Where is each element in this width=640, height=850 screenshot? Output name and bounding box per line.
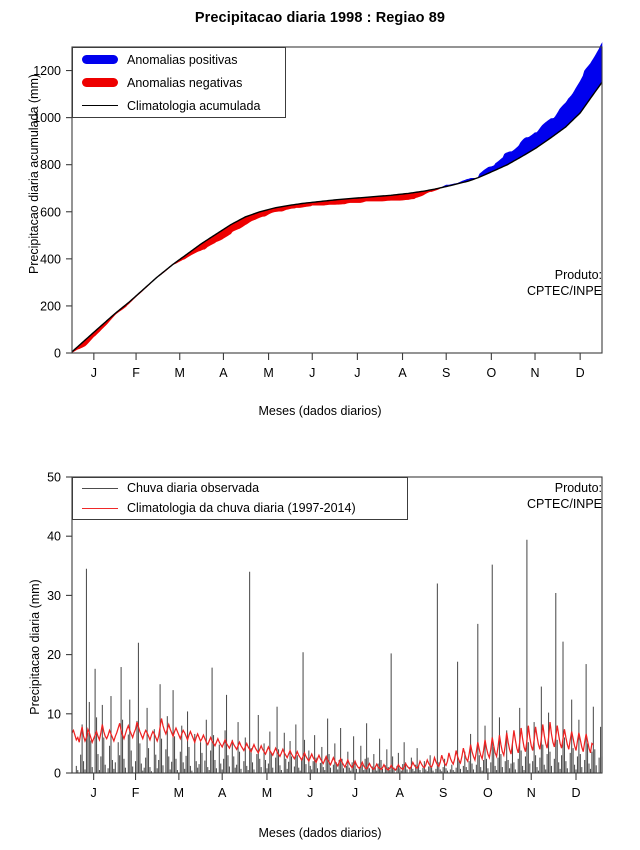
top-x-tick-label: A bbox=[398, 366, 407, 380]
bottom-x-tick-label: J bbox=[352, 786, 358, 800]
legend-item-climatology: Climatologia acumulada bbox=[73, 94, 285, 117]
negative-anomaly-swatch-icon bbox=[82, 78, 118, 87]
top-x-tick-label: N bbox=[531, 366, 540, 380]
climatology-daily-line-swatch-icon bbox=[82, 508, 118, 509]
bottom-y-tick-label: 40 bbox=[47, 530, 61, 544]
bottom-x-tick-label: M bbox=[174, 786, 184, 800]
top-y-axis-label: Precipitacao diaria acumulada (mm) bbox=[27, 54, 41, 294]
legend-label: Anomalias negativas bbox=[118, 76, 242, 90]
top-x-tick-label: M bbox=[263, 366, 273, 380]
top-y-tick-label: 400 bbox=[40, 252, 61, 266]
climatology-daily-line bbox=[72, 719, 593, 771]
legend-label: Anomalias positivas bbox=[118, 53, 237, 67]
top-x-tick-label: J bbox=[91, 366, 97, 380]
top-x-tick-label: F bbox=[132, 366, 140, 380]
bottom-x-tick-label: O bbox=[483, 786, 493, 800]
legend-label: Climatologia da chuva diaria (1997-2014) bbox=[118, 501, 356, 515]
bottom-x-tick-label: F bbox=[132, 786, 140, 800]
bottom-x-tick-label: N bbox=[527, 786, 536, 800]
top-y-tick-label: 800 bbox=[40, 158, 61, 172]
bottom-y-tick-label: 20 bbox=[47, 648, 61, 662]
legend-item-climatology-daily: Climatologia da chuva diaria (1997-2014) bbox=[73, 498, 407, 518]
bottom-x-axis-label: Meses (dados diarios) bbox=[0, 826, 640, 840]
bottom-y-axis-label: Precipitacao diaria (mm) bbox=[28, 532, 42, 762]
observed-daily-line-swatch-icon bbox=[82, 488, 118, 489]
top-x-tick-label: M bbox=[175, 366, 185, 380]
top-x-tick-label: S bbox=[442, 366, 450, 380]
bottom-y-tick-label: 0 bbox=[54, 767, 61, 781]
top-y-tick-label: 600 bbox=[40, 205, 61, 219]
top-x-tick-label: A bbox=[219, 366, 228, 380]
top-x-tick-label: D bbox=[576, 366, 585, 380]
top-x-tick-label: J bbox=[309, 366, 315, 380]
producer-credit-bottom: Produto:CPTEC/INPE bbox=[527, 481, 602, 512]
chart-page: Precipitacao diaria 1998 : Regiao 89 020… bbox=[0, 0, 640, 850]
positive-anomaly-swatch-icon bbox=[82, 55, 118, 64]
legend-item-observed-daily: Chuva diaria observada bbox=[73, 478, 407, 498]
bottom-x-tick-label: D bbox=[571, 786, 580, 800]
bottom-x-tick-label: A bbox=[396, 786, 405, 800]
legend-item-negative-anomaly: Anomalias negativas bbox=[73, 71, 285, 94]
producer-line2: CPTEC/INPE bbox=[527, 497, 602, 511]
producer-credit-top: Produto:CPTEC/INPE bbox=[527, 268, 602, 299]
bottom-x-tick-label: S bbox=[439, 786, 447, 800]
bottom-y-tick-label: 50 bbox=[47, 471, 61, 485]
producer-line2: CPTEC/INPE bbox=[527, 284, 602, 298]
top-x-tick-label: J bbox=[354, 366, 360, 380]
bottom-x-tick-label: A bbox=[218, 786, 227, 800]
legend-label: Climatologia acumulada bbox=[118, 99, 260, 113]
bottom-y-tick-label: 10 bbox=[47, 707, 61, 721]
top-x-axis-label: Meses (dados diarios) bbox=[0, 404, 640, 418]
legend-label: Chuva diaria observada bbox=[118, 481, 259, 495]
top-y-tick-label: 200 bbox=[40, 299, 61, 313]
producer-line1: Produto: bbox=[555, 268, 602, 282]
top-y-tick-label: 0 bbox=[54, 347, 61, 361]
bottom-x-tick-label: M bbox=[262, 786, 272, 800]
bottom-y-tick-label: 30 bbox=[47, 589, 61, 603]
producer-line1: Produto: bbox=[555, 481, 602, 495]
bottom-legend: Chuva diaria observada Climatologia da c… bbox=[72, 477, 408, 520]
top-legend: Anomalias positivas Anomalias negativas … bbox=[72, 47, 286, 118]
climatology-line-swatch-icon bbox=[82, 105, 118, 106]
legend-item-positive-anomaly: Anomalias positivas bbox=[73, 48, 285, 71]
bottom-x-tick-label: J bbox=[91, 786, 97, 800]
bottom-x-tick-label: J bbox=[307, 786, 313, 800]
top-x-tick-label: O bbox=[486, 366, 496, 380]
